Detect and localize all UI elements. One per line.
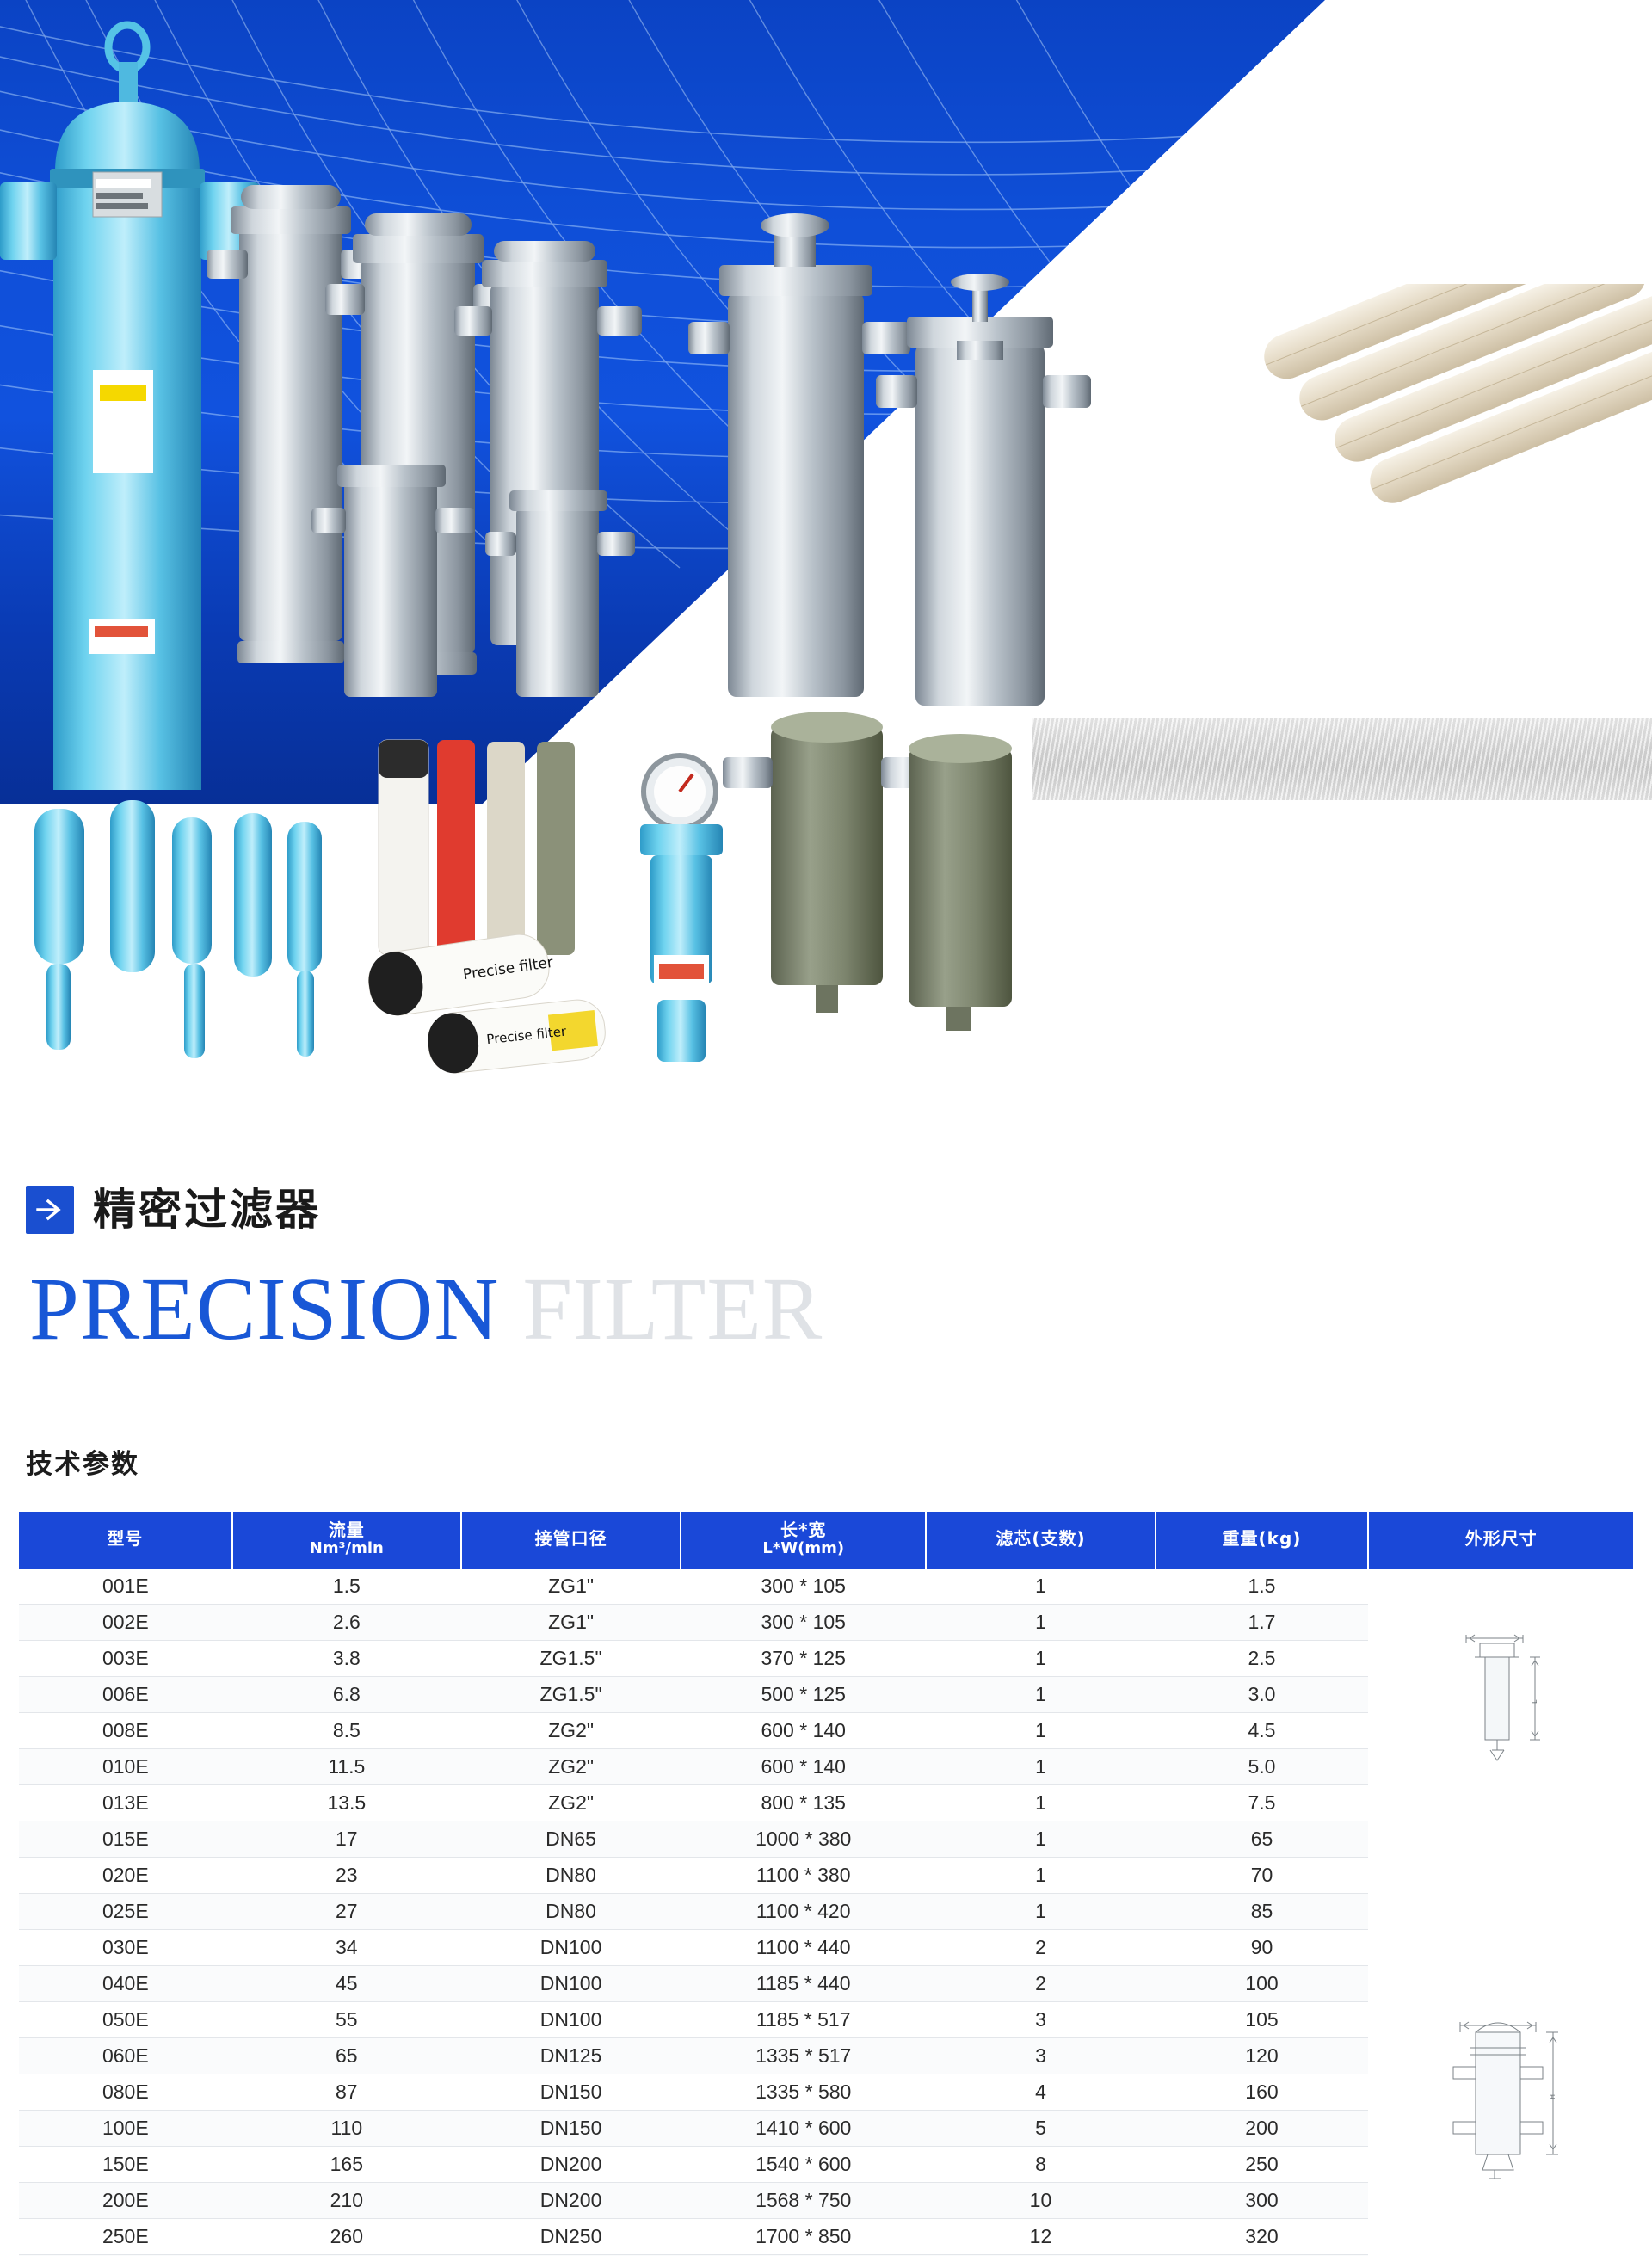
model-cell: 001E [19,1569,232,1605]
model-cell: 080E [19,2074,232,2110]
port-size-cell: ZG1" [461,1569,681,1605]
port-size-cell: ZG1.5" [461,1676,681,1712]
flow-cell: 165 [232,2146,461,2182]
length-width-cell: 1568 * 750 [681,2182,926,2218]
weight-cell: 1.7 [1156,1604,1369,1640]
flow-cell: 17 [232,1821,461,1857]
svg-text:L: L [1531,1699,1538,1704]
cores-cell: 3 [926,2037,1155,2074]
length-width-cell: 600 * 140 [681,1748,926,1784]
weight-cell: 100 [1156,1965,1369,2001]
cores-cell: 1 [926,1712,1155,1748]
port-size-cell: DN150 [461,2110,681,2146]
spec-table-header-row: 型号 流量 Nm³/min 接管口径 长*宽 L*W(mm) 滤芯(支数) [19,1512,1633,1569]
hero-banner: Precise filter Precise filter [0,0,1652,1110]
page-title-en: PRECISION FILTER [29,1265,823,1354]
table-row: 001E1.5ZG1"300 * 10511.5 L [19,1569,1633,1605]
length-width-cell: 1100 * 420 [681,1893,926,1929]
cores-cell: 5 [926,2110,1155,2146]
spec-table-body: 001E1.5ZG1"300 * 10511.5 L 002E2.6ZG1"30… [19,1569,1633,2256]
cores-cell: 3 [926,2001,1155,2037]
model-cell: 003E [19,1640,232,1676]
weight-cell: 105 [1156,2001,1369,2037]
small-filter-outline-drawing: L [1368,1569,1633,1821]
length-width-cell: 370 * 125 [681,1640,926,1676]
table-row: 015E17DN651000 * 380165 H [19,1821,1633,1857]
flow-cell: 2.6 [232,1604,461,1640]
weight-cell: 160 [1156,2074,1369,2110]
model-cell: 020E [19,1857,232,1893]
spec-table: 型号 流量 Nm³/min 接管口径 长*宽 L*W(mm) 滤芯(支数) [19,1512,1633,2256]
model-cell: 015E [19,1821,232,1857]
cores-cell: 1 [926,1857,1155,1893]
cores-cell: 1 [926,1676,1155,1712]
cores-cell: 12 [926,2218,1155,2254]
port-size-cell: DN250 [461,2218,681,2254]
length-width-cell: 800 * 135 [681,1784,926,1821]
section-title-row: 精密过滤器 [26,1186,321,1234]
col-header-length-width: 长*宽 L*W(mm) [681,1512,926,1569]
port-size-cell: ZG2" [461,1784,681,1821]
length-width-cell: 300 * 105 [681,1569,926,1605]
length-width-cell: 1100 * 380 [681,1857,926,1893]
cores-cell: 8 [926,2146,1155,2182]
model-cell: 008E [19,1712,232,1748]
length-width-cell: 1185 * 440 [681,1965,926,2001]
port-size-cell: DN100 [461,1929,681,1965]
large-filter-outline-drawing: H [1368,1821,1633,2256]
weight-cell: 2.5 [1156,1640,1369,1676]
model-cell: 006E [19,1676,232,1712]
length-width-cell: 500 * 125 [681,1676,926,1712]
flow-cell: 11.5 [232,1748,461,1784]
flow-cell: 110 [232,2110,461,2146]
length-width-cell: 1540 * 600 [681,2146,926,2182]
page-title-cn: 精密过滤器 [93,1188,321,1231]
page-title-en-primary: PRECISION [29,1260,499,1359]
weight-cell: 200 [1156,2110,1369,2146]
flow-cell: 6.8 [232,1676,461,1712]
flow-cell: 8.5 [232,1712,461,1748]
model-cell: 030E [19,1929,232,1965]
weight-cell: 120 [1156,2037,1369,2074]
length-width-cell: 1100 * 440 [681,1929,926,1965]
flow-cell: 13.5 [232,1784,461,1821]
length-width-cell: 1185 * 517 [681,2001,926,2037]
cores-cell: 1 [926,1821,1155,1857]
model-cell: 050E [19,2001,232,2037]
weight-cell: 4.5 [1156,1712,1369,1748]
spec-table-wrapper: 型号 流量 Nm³/min 接管口径 长*宽 L*W(mm) 滤芯(支数) [19,1512,1633,2256]
port-size-cell: ZG1.5" [461,1640,681,1676]
cores-cell: 1 [926,1784,1155,1821]
weight-cell: 3.0 [1156,1676,1369,1712]
weight-cell: 5.0 [1156,1748,1369,1784]
port-size-cell: DN100 [461,2001,681,2037]
model-cell: 250E [19,2218,232,2254]
flow-cell: 1.5 [232,1569,461,1605]
weight-cell: 320 [1156,2218,1369,2254]
model-cell: 002E [19,1604,232,1640]
length-width-cell: 1700 * 850 [681,2218,926,2254]
model-cell: 150E [19,2146,232,2182]
col-header-port-size: 接管口径 [461,1512,681,1569]
port-size-cell: DN80 [461,1893,681,1929]
cores-cell: 2 [926,1965,1155,2001]
length-width-cell: 1335 * 517 [681,2037,926,2074]
tech-params-label: 技术参数 [26,1442,139,1481]
cores-cell: 1 [926,1604,1155,1640]
length-width-cell: 1000 * 380 [681,1821,926,1857]
port-size-cell: ZG2" [461,1748,681,1784]
model-cell: 010E [19,1748,232,1784]
length-width-cell: 300 * 105 [681,1604,926,1640]
flow-cell: 27 [232,1893,461,1929]
cores-cell: 4 [926,2074,1155,2110]
flow-cell: 23 [232,1857,461,1893]
flow-cell: 55 [232,2001,461,2037]
weight-cell: 70 [1156,1857,1369,1893]
model-cell: 060E [19,2037,232,2074]
port-size-cell: DN200 [461,2146,681,2182]
col-header-weight: 重量(kg) [1156,1512,1369,1569]
weight-cell: 85 [1156,1893,1369,1929]
cores-cell: 1 [926,1640,1155,1676]
port-size-cell: DN65 [461,1821,681,1857]
model-cell: 200E [19,2182,232,2218]
product-photo-cluster: Precise filter Precise filter [0,0,1652,1110]
port-size-cell: DN80 [461,1857,681,1893]
cores-cell: 1 [926,1893,1155,1929]
page-title-en-secondary: FILTER [522,1260,823,1359]
port-size-cell: ZG2" [461,1712,681,1748]
length-width-cell: 1335 * 580 [681,2074,926,2110]
weight-cell: 65 [1156,1821,1369,1857]
cores-cell: 1 [926,1569,1155,1605]
flow-cell: 3.8 [232,1640,461,1676]
model-cell: 040E [19,1965,232,2001]
model-cell: 100E [19,2110,232,2146]
flow-cell: 34 [232,1929,461,1965]
svg-text:H: H [1549,2094,1556,2099]
col-header-outline-dimension: 外形尺寸 [1368,1512,1633,1569]
arrow-right-icon [26,1186,74,1234]
cores-cell: 2 [926,1929,1155,1965]
catalog-page: Precise filter Precise filter [0,0,1652,2256]
cores-cell: 10 [926,2182,1155,2218]
weight-cell: 90 [1156,1929,1369,1965]
flow-cell: 65 [232,2037,461,2074]
length-width-cell: 600 * 140 [681,1712,926,1748]
col-header-flow: 流量 Nm³/min [232,1512,461,1569]
port-size-cell: ZG1" [461,1604,681,1640]
model-cell: 013E [19,1784,232,1821]
cores-cell: 1 [926,1748,1155,1784]
weight-cell: 1.5 [1156,1569,1369,1605]
port-size-cell: DN100 [461,1965,681,2001]
col-header-cores: 滤芯(支数) [926,1512,1155,1569]
col-header-model: 型号 [19,1512,232,1569]
length-width-cell: 1410 * 600 [681,2110,926,2146]
flow-cell: 87 [232,2074,461,2110]
port-size-cell: DN200 [461,2182,681,2218]
flow-cell: 260 [232,2218,461,2254]
port-size-cell: DN125 [461,2037,681,2074]
port-size-cell: DN150 [461,2074,681,2110]
model-cell: 025E [19,1893,232,1929]
weight-cell: 250 [1156,2146,1369,2182]
weight-cell: 300 [1156,2182,1369,2218]
flow-cell: 210 [232,2182,461,2218]
weight-cell: 7.5 [1156,1784,1369,1821]
flow-cell: 45 [232,1965,461,2001]
